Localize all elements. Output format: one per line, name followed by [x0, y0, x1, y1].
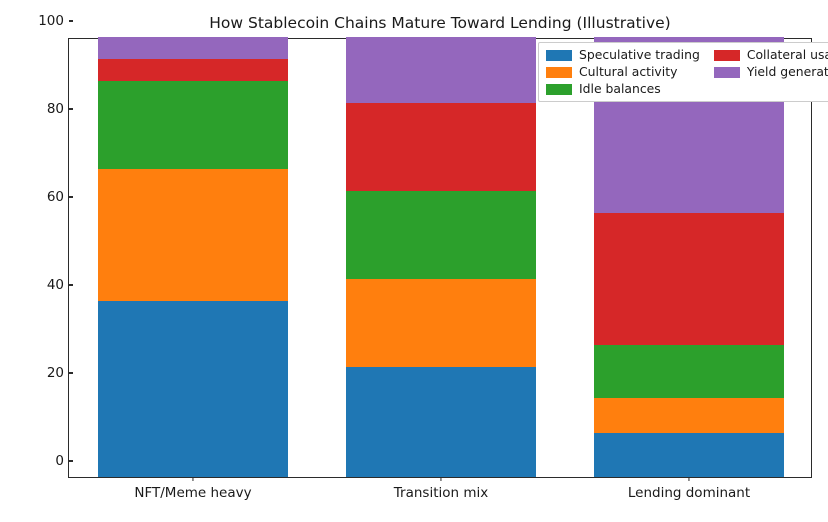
- bar-segment[interactable]: [346, 367, 536, 477]
- x-axis-tick-label: Lending dominant: [628, 485, 750, 501]
- legend-label: Speculative trading: [579, 48, 700, 62]
- y-axis-tick-mark: [69, 196, 73, 197]
- legend-label: Idle balances: [579, 82, 661, 96]
- legend-entry[interactable]: Collateral usage: [714, 48, 828, 62]
- x-axis-tick-label: NFT/Meme heavy: [134, 485, 251, 501]
- legend-entry[interactable]: Yield generation: [714, 65, 828, 79]
- y-axis-tick-mark: [69, 284, 73, 285]
- bar-segment[interactable]: [594, 345, 784, 398]
- bar-segment[interactable]: [346, 103, 536, 191]
- bar-segment[interactable]: [346, 279, 536, 367]
- y-axis-tick-label: 40: [47, 277, 69, 293]
- bar-segment[interactable]: [98, 37, 288, 59]
- legend-color-swatch: [546, 67, 572, 78]
- y-axis-tick-mark: [69, 20, 73, 21]
- bar-stack[interactable]: [346, 37, 536, 477]
- y-axis-tick-mark: [69, 372, 73, 373]
- bar-segment[interactable]: [346, 191, 536, 279]
- bar-segment[interactable]: [98, 81, 288, 169]
- chart-figure: How Stablecoin Chains Mature Toward Lend…: [0, 0, 828, 522]
- y-axis-tick: 40: [47, 277, 69, 293]
- x-axis-tick-mark: [440, 477, 441, 481]
- y-axis-tick-label: 100: [38, 13, 69, 29]
- plot-area: 020406080100 NFT/Meme heavyTransition mi…: [68, 38, 812, 478]
- y-axis-tick: 0: [55, 453, 69, 469]
- chart-legend: Speculative tradingCultural activityIdle…: [538, 42, 828, 102]
- legend-column-1: Speculative tradingCultural activityIdle…: [546, 48, 700, 96]
- legend-column-2: Collateral usageYield generation: [714, 48, 828, 96]
- y-axis-label-container: Activity composition: [0, 38, 30, 478]
- bar-segment[interactable]: [98, 59, 288, 81]
- legend-color-swatch: [714, 50, 740, 61]
- legend-label: Collateral usage: [747, 48, 828, 62]
- legend-color-swatch: [546, 50, 572, 61]
- legend-color-swatch: [714, 67, 740, 78]
- x-axis-tick-label: Transition mix: [394, 485, 488, 501]
- legend-entry[interactable]: Cultural activity: [546, 65, 700, 79]
- legend-color-swatch: [546, 84, 572, 95]
- legend-label: Yield generation: [747, 65, 828, 79]
- bar-segment[interactable]: [594, 398, 784, 433]
- legend-entry[interactable]: Speculative trading: [546, 48, 700, 62]
- x-axis-tick-mark: [192, 477, 193, 481]
- bar-segment[interactable]: [594, 213, 784, 345]
- bar-segment[interactable]: [594, 433, 784, 477]
- y-axis-tick-label: 60: [47, 189, 69, 205]
- bar-stack[interactable]: [594, 37, 784, 477]
- y-axis-tick: 20: [47, 365, 69, 381]
- legend-label: Cultural activity: [579, 65, 677, 79]
- bar-segment[interactable]: [98, 301, 288, 477]
- y-axis-tick-mark: [69, 108, 73, 109]
- bar-segment[interactable]: [98, 169, 288, 301]
- y-axis-tick-label: 20: [47, 365, 69, 381]
- bar-segment[interactable]: [346, 37, 536, 103]
- y-axis-tick-mark: [69, 460, 73, 461]
- legend-entry[interactable]: Idle balances: [546, 82, 700, 96]
- y-axis-tick-label: 0: [55, 453, 69, 469]
- x-axis-tick-mark: [688, 477, 689, 481]
- y-axis-tick-label: 80: [47, 101, 69, 117]
- y-axis-tick: 60: [47, 189, 69, 205]
- chart-title: How Stablecoin Chains Mature Toward Lend…: [68, 14, 812, 32]
- bar-stack[interactable]: [98, 37, 288, 477]
- y-axis-tick: 80: [47, 101, 69, 117]
- y-axis-tick: 100: [38, 13, 69, 29]
